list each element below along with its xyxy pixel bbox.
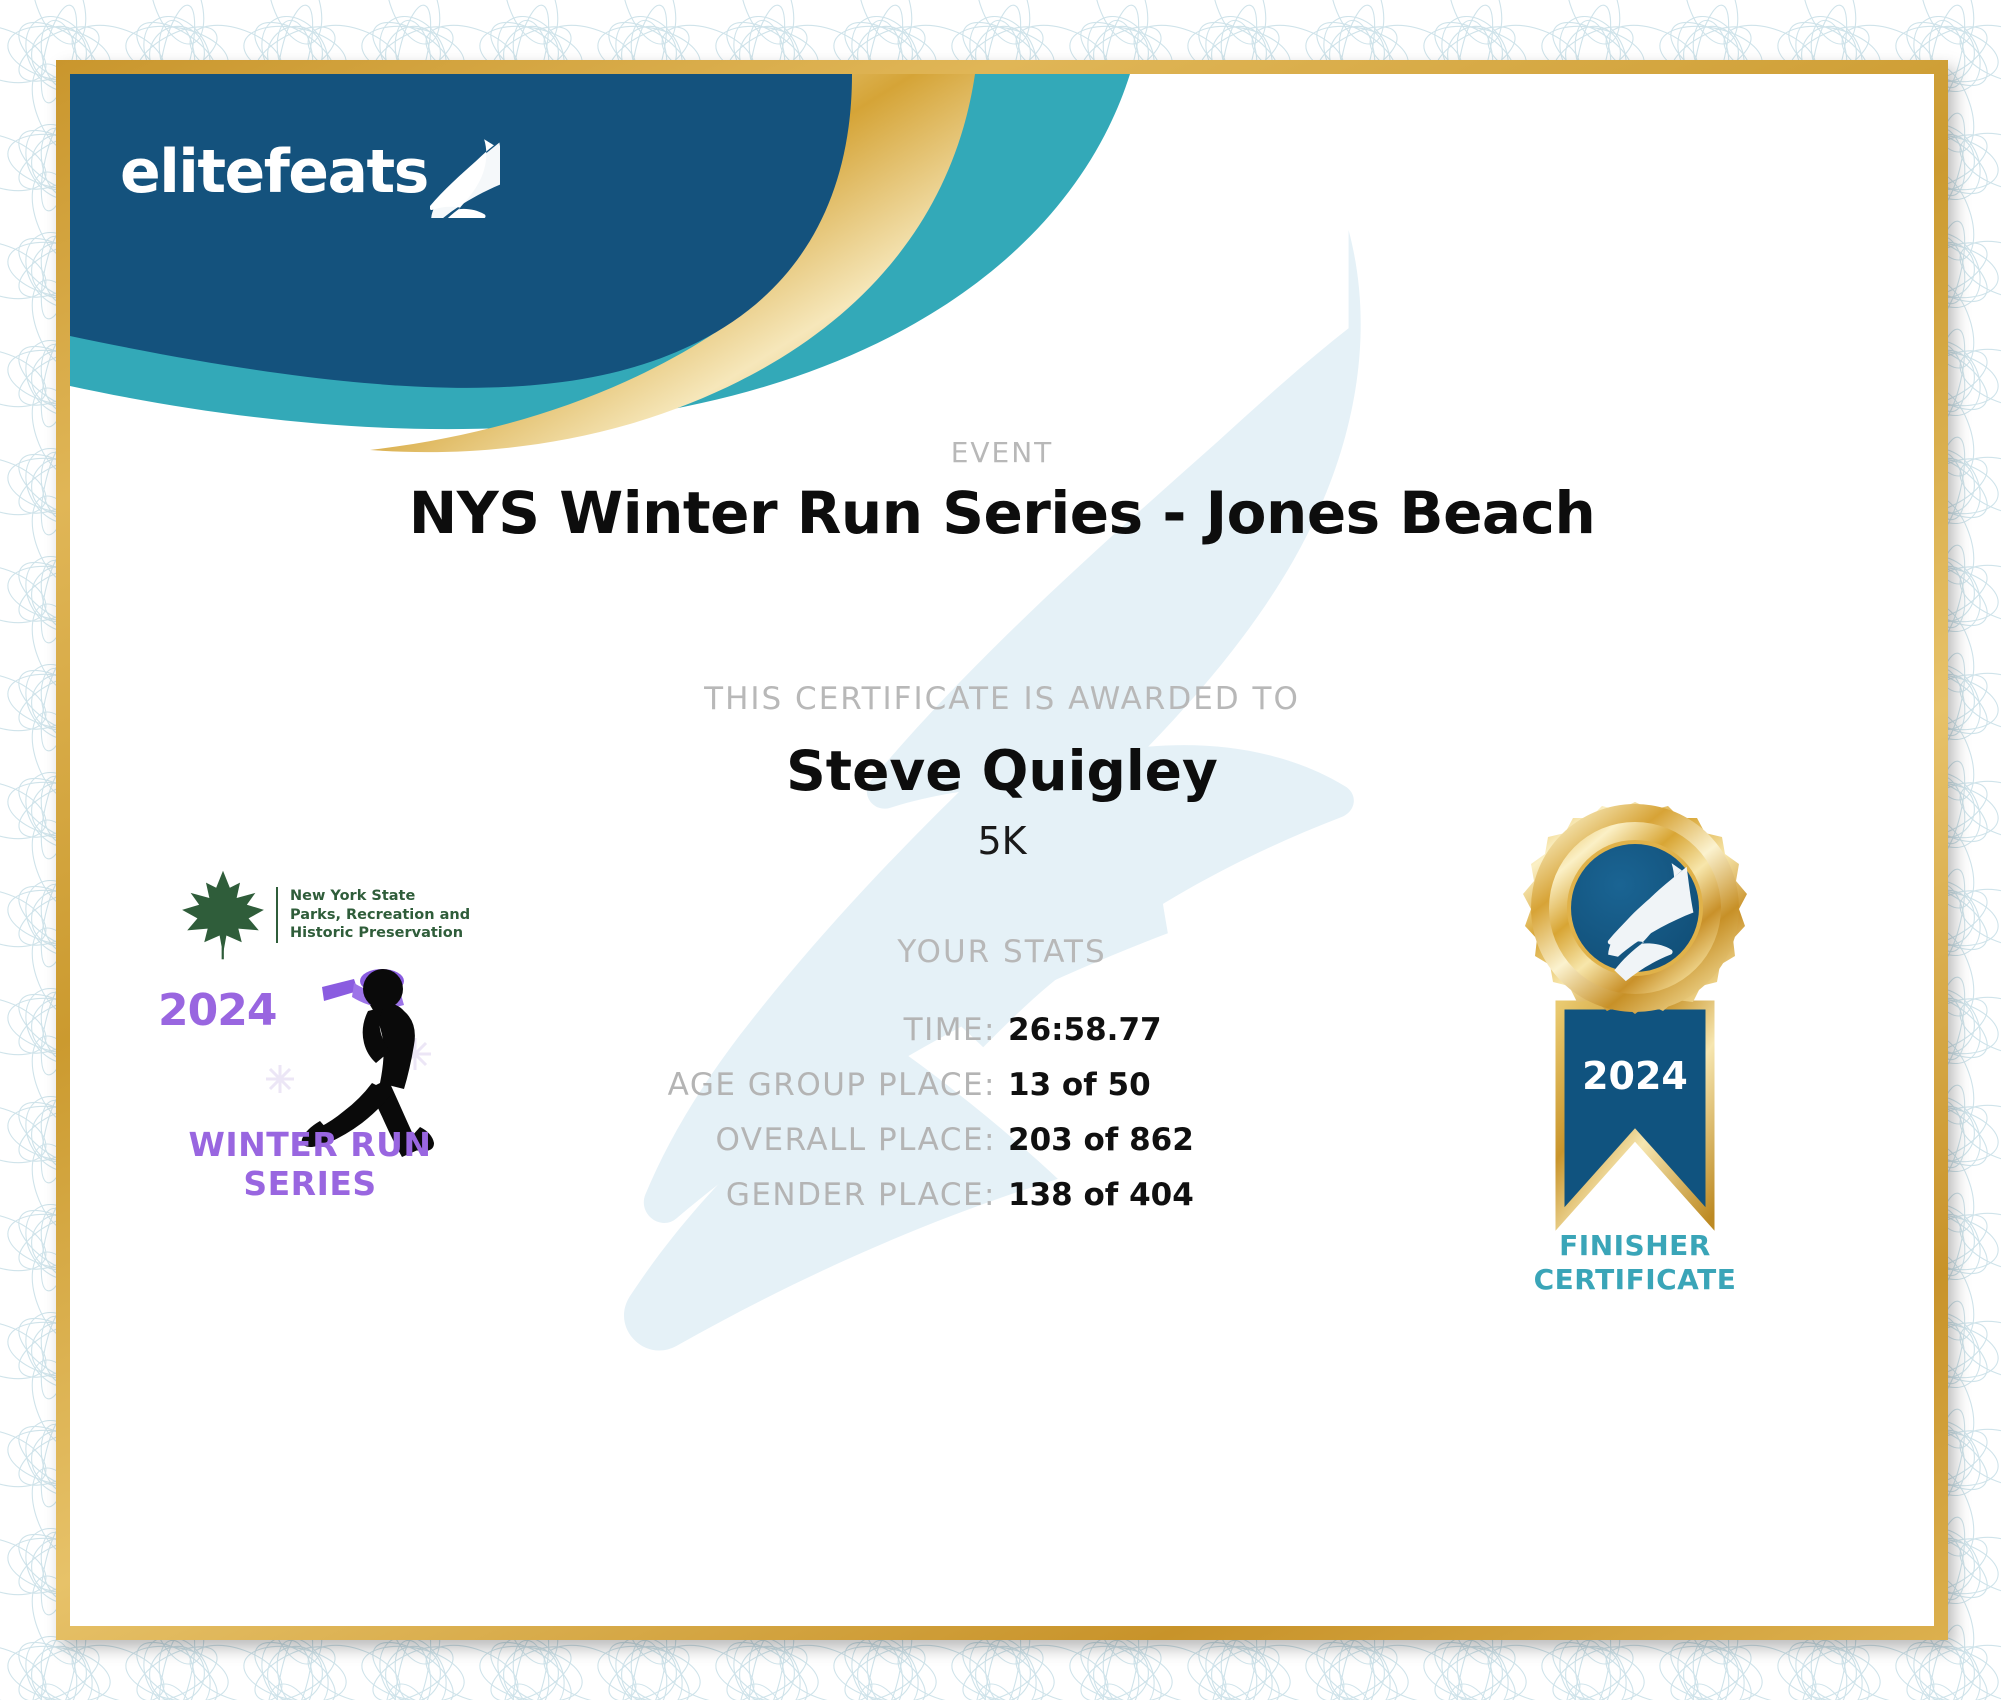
finisher-medal-badge: 2024 — [1490, 799, 1780, 1279]
certificate-body: elitefeats EVENT NYS Winter Run Series -… — [70, 74, 1934, 1626]
awarded-to-label: THIS CERTIFICATE IS AWARDED TO — [70, 681, 1934, 717]
gold-border-frame: elitefeats EVENT NYS Winter Run Series -… — [56, 60, 1948, 1640]
stat-label: TIME: — [526, 1012, 996, 1048]
stat-value: 26:58.77 — [1008, 1012, 1478, 1048]
maple-leaf-icon — [180, 869, 266, 961]
winged-foot-icon — [430, 136, 500, 218]
brand-logo: elitefeats — [120, 136, 500, 202]
medal-ribbon-year: 2024 — [1582, 1054, 1688, 1098]
nys-line-2: Parks, Recreation and — [290, 906, 470, 925]
stat-value: 203 of 862 — [1008, 1122, 1478, 1158]
recipient-name: Steve Quigley — [70, 739, 1934, 803]
event-label: EVENT — [70, 436, 1934, 469]
stat-label: GENDER PLACE: — [526, 1177, 996, 1213]
nys-parks-logo: New York State Parks, Recreation and His… — [180, 869, 470, 961]
nys-line-1: New York State — [290, 887, 470, 906]
series-title: WINTER RUN SERIES — [150, 1125, 470, 1203]
stat-value: 138 of 404 — [1008, 1177, 1478, 1213]
event-title: NYS Winter Run Series - Jones Beach — [70, 479, 1934, 547]
nys-line-3: Historic Preservation — [290, 924, 470, 943]
medal-caption-line-1: FINISHER — [1465, 1229, 1805, 1263]
medal-caption-line-2: CERTIFICATE — [1465, 1263, 1805, 1297]
stat-value: 13 of 50 — [1008, 1067, 1478, 1103]
stat-label: AGE GROUP PLACE: — [526, 1067, 996, 1103]
stat-label: OVERALL PLACE: — [526, 1122, 996, 1158]
winter-run-series-logo: 2024 — [150, 959, 470, 1209]
medal-caption: FINISHER CERTIFICATE — [1465, 1229, 1805, 1297]
certificate-page: elitefeats EVENT NYS Winter Run Series -… — [0, 0, 2001, 1700]
brand-name: elitefeats — [120, 142, 428, 202]
nys-parks-text: New York State Parks, Recreation and His… — [276, 887, 470, 943]
